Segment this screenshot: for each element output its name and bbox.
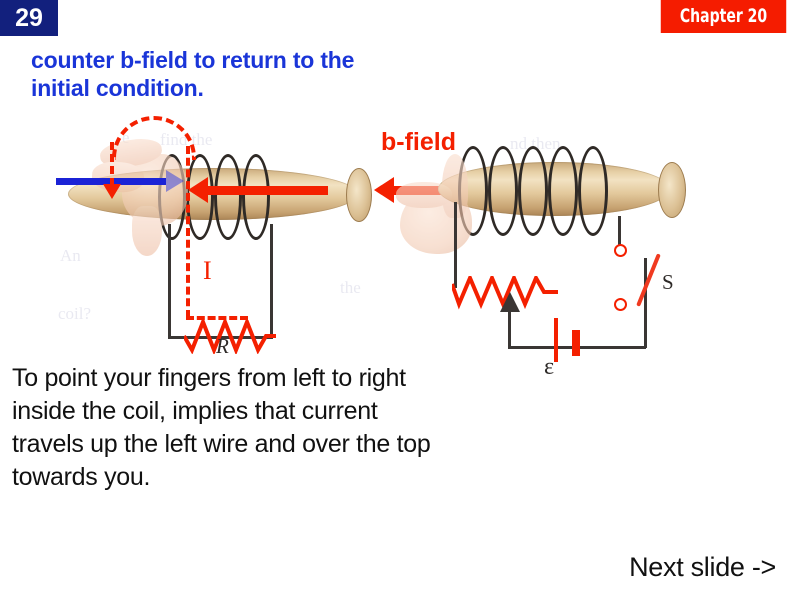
left-b-field-arrow-shaft <box>208 186 328 195</box>
left-circuit-wire-left <box>168 224 171 338</box>
left-resistor-symbol <box>184 320 276 354</box>
body-paragraph: To point your fingers from left to right… <box>12 362 442 494</box>
gap-b-field-arrowhead <box>374 177 394 203</box>
current-label: I <box>203 256 212 286</box>
left-coil-ring <box>214 154 242 240</box>
switch-blade[interactable] <box>636 253 661 306</box>
right-rod-end-cap <box>658 162 686 218</box>
switch-terminal-top[interactable] <box>614 244 627 257</box>
rheostat-adjust-arrowhead <box>500 292 520 312</box>
induction-figure: find the nd then e An coil? the <box>40 128 700 363</box>
induced-field-arrowhead <box>166 170 184 192</box>
emf-label: ε <box>544 354 554 381</box>
page-title: counter b-field to return to the initial… <box>31 46 371 102</box>
current-path-arrowhead <box>103 184 121 199</box>
switch-terminal-bottom[interactable] <box>614 298 627 311</box>
left-b-field-arrowhead <box>188 177 208 203</box>
right-circuit-wire-top-right <box>618 216 621 246</box>
current-path-top-curve <box>112 116 196 160</box>
current-path-right-vertical <box>186 146 190 318</box>
right-circuit-wire-right <box>644 258 647 348</box>
b-field-label: b-field <box>381 128 456 157</box>
left-coil-ring <box>242 154 270 240</box>
ghost-text: coil? <box>58 304 91 324</box>
battery-short-plate <box>572 330 580 356</box>
battery-long-plate <box>554 318 558 362</box>
slide-number-badge: 29 <box>0 0 58 36</box>
current-path-down-left <box>110 142 114 186</box>
left-rod-end-cap <box>346 168 372 222</box>
right-coil-ring <box>578 146 608 236</box>
right-hand-graphic <box>396 152 506 264</box>
chapter-badge: Chapter 20 <box>661 0 786 33</box>
ghost-text: the <box>340 278 361 298</box>
right-coil-ring <box>518 146 548 236</box>
ghost-text: An <box>60 246 81 266</box>
right-circuit-wire-arrow-stem <box>508 306 511 348</box>
right-coil-ring <box>548 146 578 236</box>
next-slide-link[interactable]: Next slide -> <box>629 552 776 583</box>
resistor-label: R <box>216 334 229 359</box>
slide-canvas: 29 Chapter 20 counter b-field to return … <box>0 0 800 600</box>
switch-label: S <box>662 270 674 295</box>
